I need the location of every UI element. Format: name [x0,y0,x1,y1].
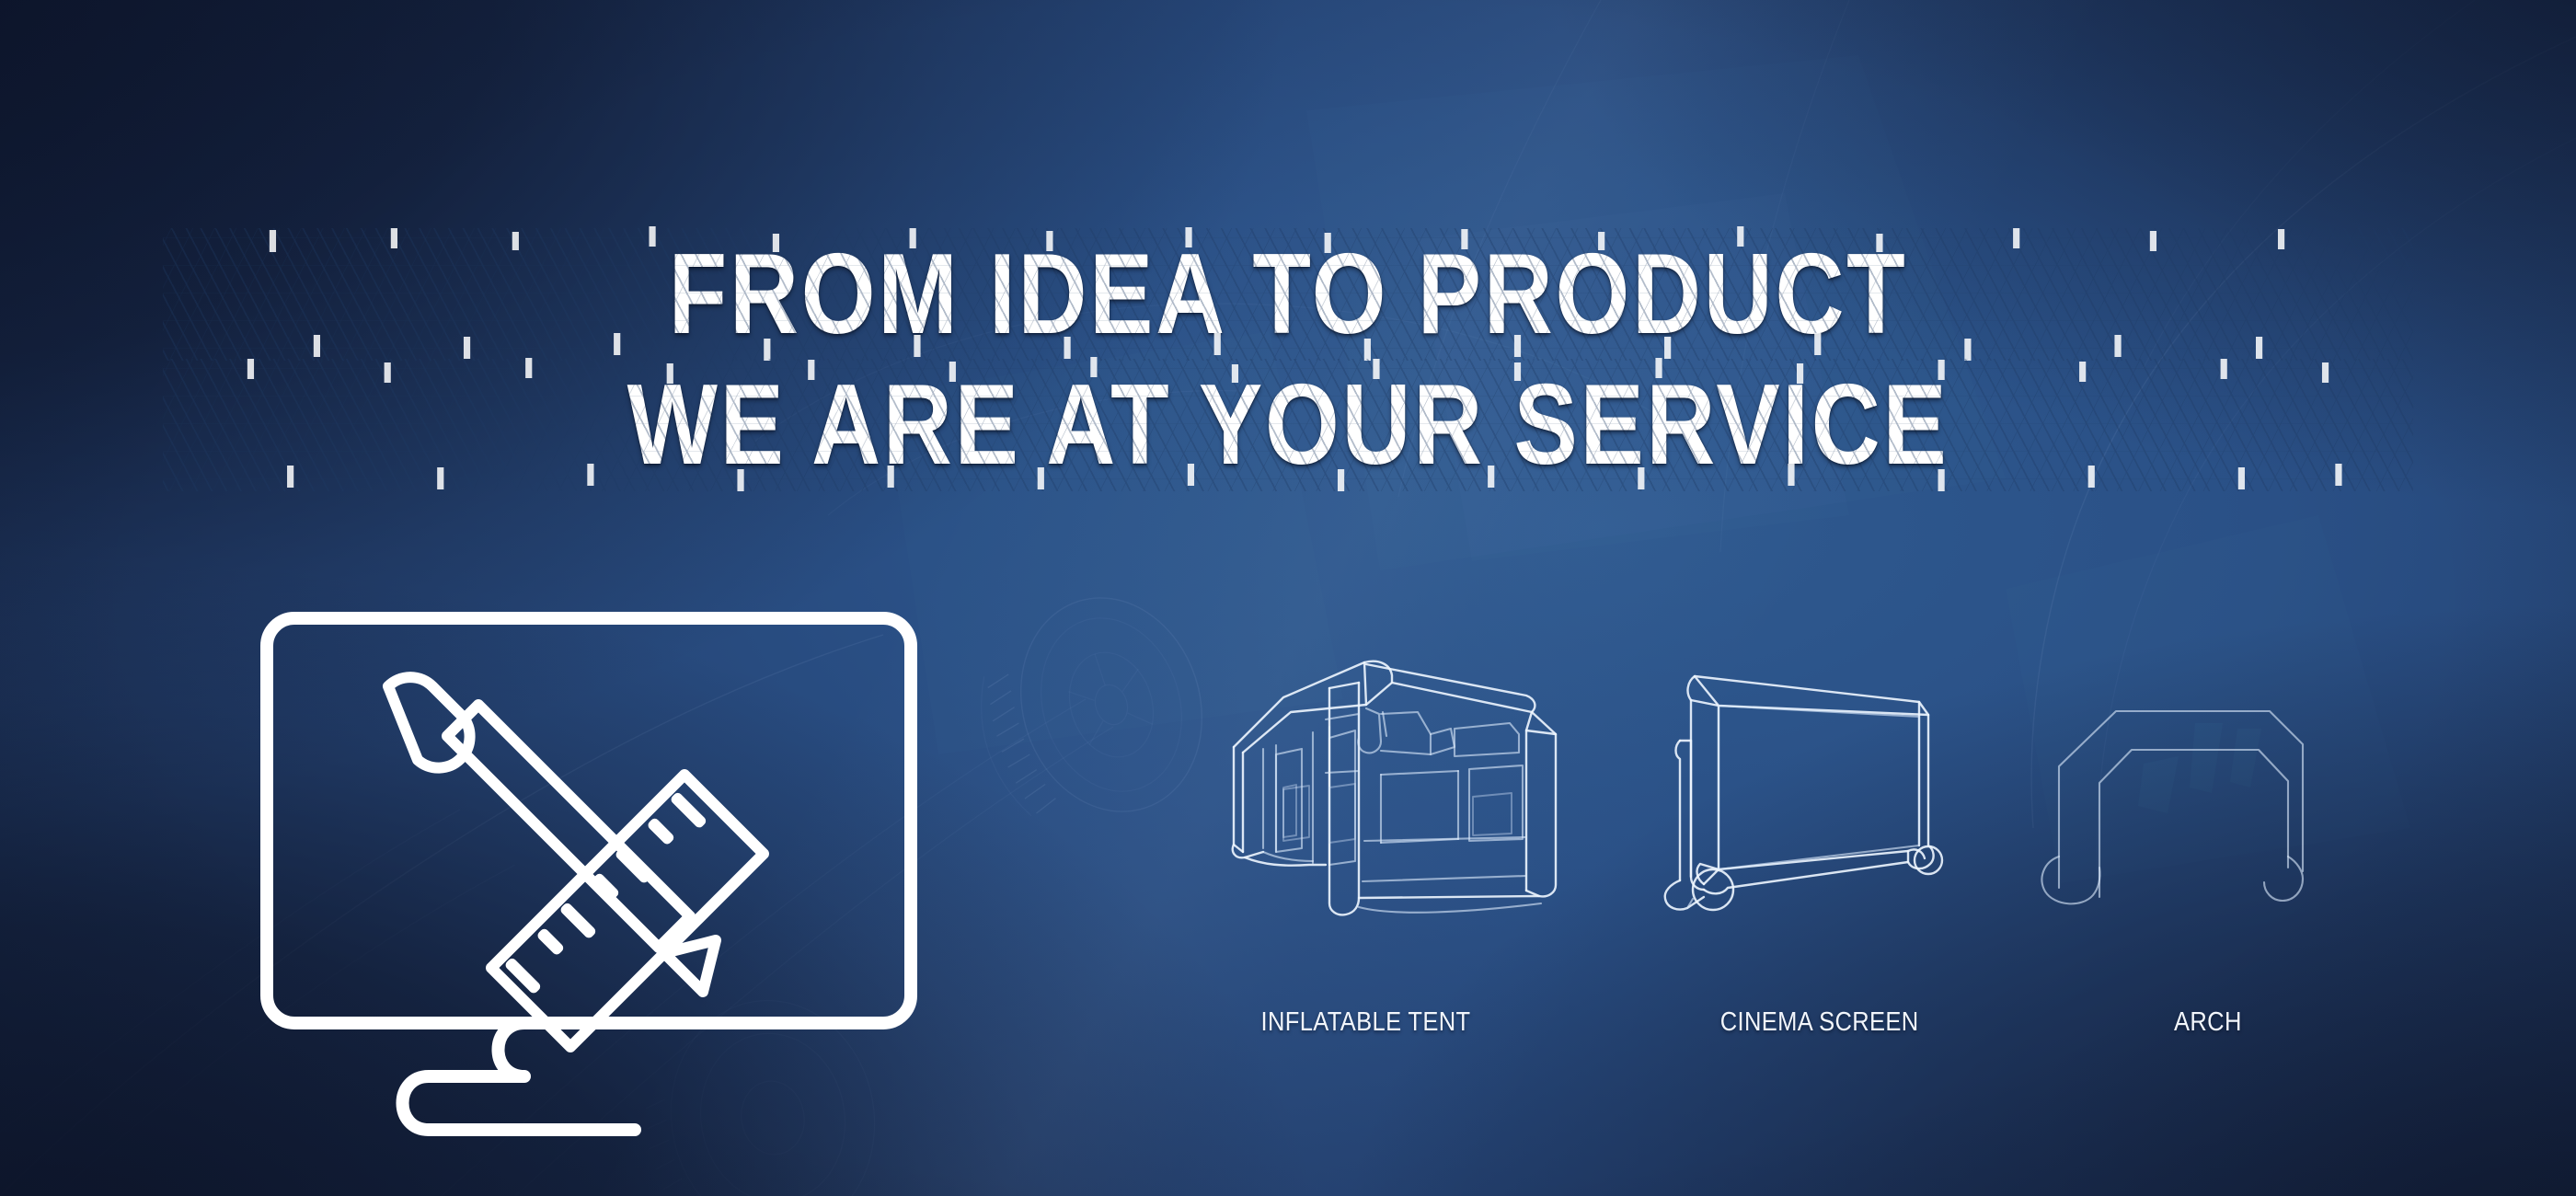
product-label-inflatable-tent: INFLATABLE TENT [1261,1007,1471,1038]
hero-banner: FROM IDEA TO PRODUCT [0,0,2576,1196]
inflatable-arch-wireframe-icon [2029,704,2314,925]
cinema-screen-wireframe-icon [1647,649,1969,948]
inflatable-tent-wireframe-icon [1155,635,1596,948]
product-label-arch: ARCH [2174,1007,2242,1038]
product-label-cinema-screen: CINEMA SCREEN [1720,1007,1919,1038]
monitor-pencil-ruler-icon [248,598,929,1168]
